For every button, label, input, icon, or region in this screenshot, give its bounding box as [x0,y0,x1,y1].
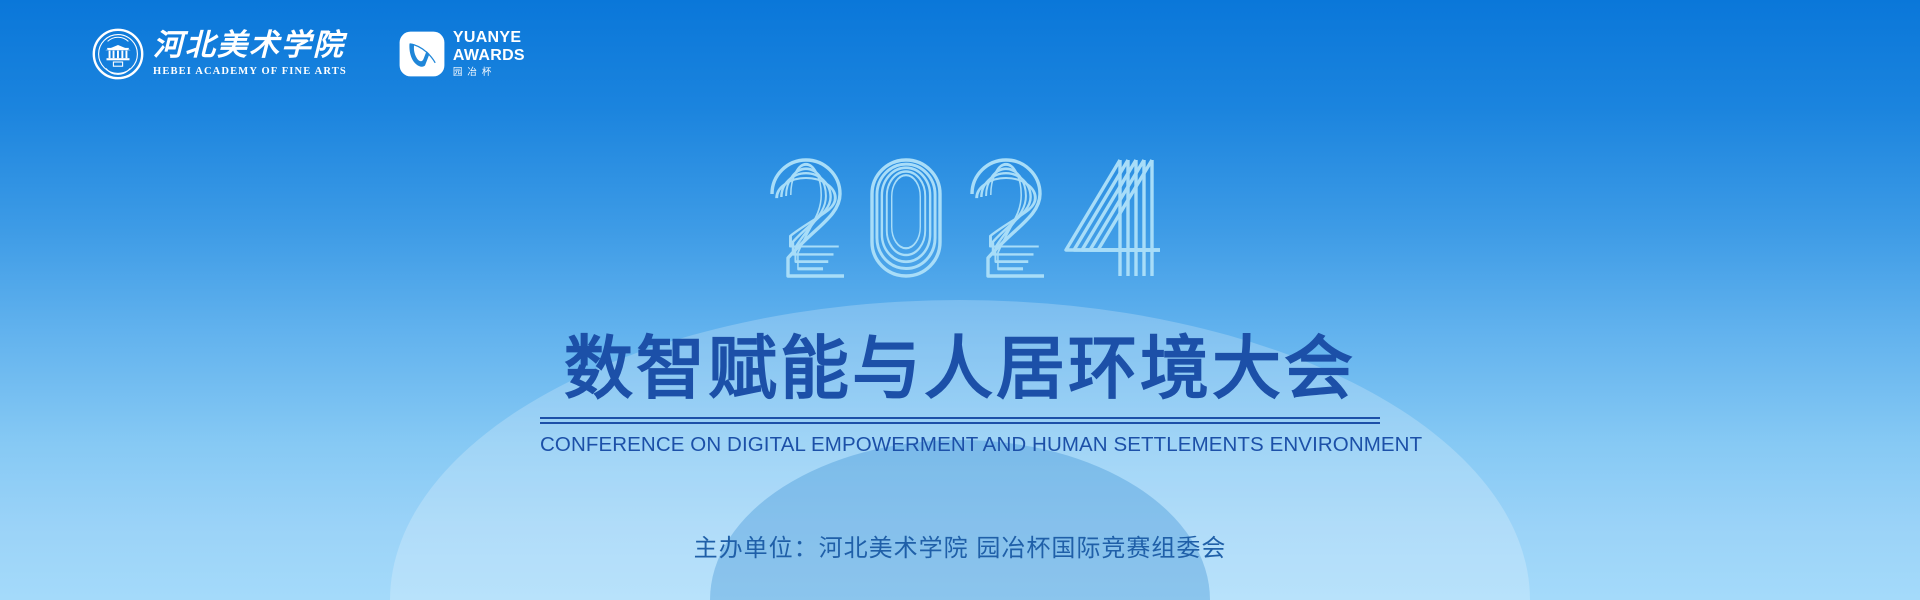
academy-seal-icon [92,28,144,80]
year-graphic-2024 [760,136,1160,296]
logo-yuanye-text: YUANYE AWARDS 园冶杯 [453,30,525,78]
conference-title-cn: 数智赋能与人居环境大会 [540,334,1380,403]
title-block: 数智赋能与人居环境大会 CONFERENCE ON DIGITAL EMPOWE… [540,334,1380,457]
conference-banner: 河北美术学院 HEBEI ACADEMY OF FINE ARTS YUANYE… [0,0,1920,600]
divider-line-bottom [540,422,1380,424]
logo-hebei-text: 河北美术学院 HEBEI ACADEMY OF FINE ARTS [153,31,347,78]
logo-yuanye-line2: AWARDS [453,48,525,64]
logo-hebei-academy[interactable]: 河北美术学院 HEBEI ACADEMY OF FINE ARTS [92,28,347,80]
organiser-line: 主办单位：河北美术学院 园冶杯国际竞赛组委会 [694,528,1227,563]
logo-yuanye-line3: 园冶杯 [453,68,525,78]
background-dome-inner [710,440,1210,600]
logo-bar: 河北美术学院 HEBEI ACADEMY OF FINE ARTS YUANYE… [92,28,525,80]
logo-hebei-name-cn: 河北美术学院 [153,31,347,61]
logo-hebei-name-en: HEBEI ACADEMY OF FINE ARTS [153,67,347,78]
divider-line-top [540,417,1380,419]
title-divider [540,417,1380,424]
yuanye-mark-icon [399,31,445,77]
logo-yuanye-line1: YUANYE [453,30,525,46]
logo-yuanye-awards[interactable]: YUANYE AWARDS 园冶杯 [399,30,525,78]
conference-title-en: CONFERENCE ON DIGITAL EMPOWERMENT AND HU… [540,433,1380,457]
